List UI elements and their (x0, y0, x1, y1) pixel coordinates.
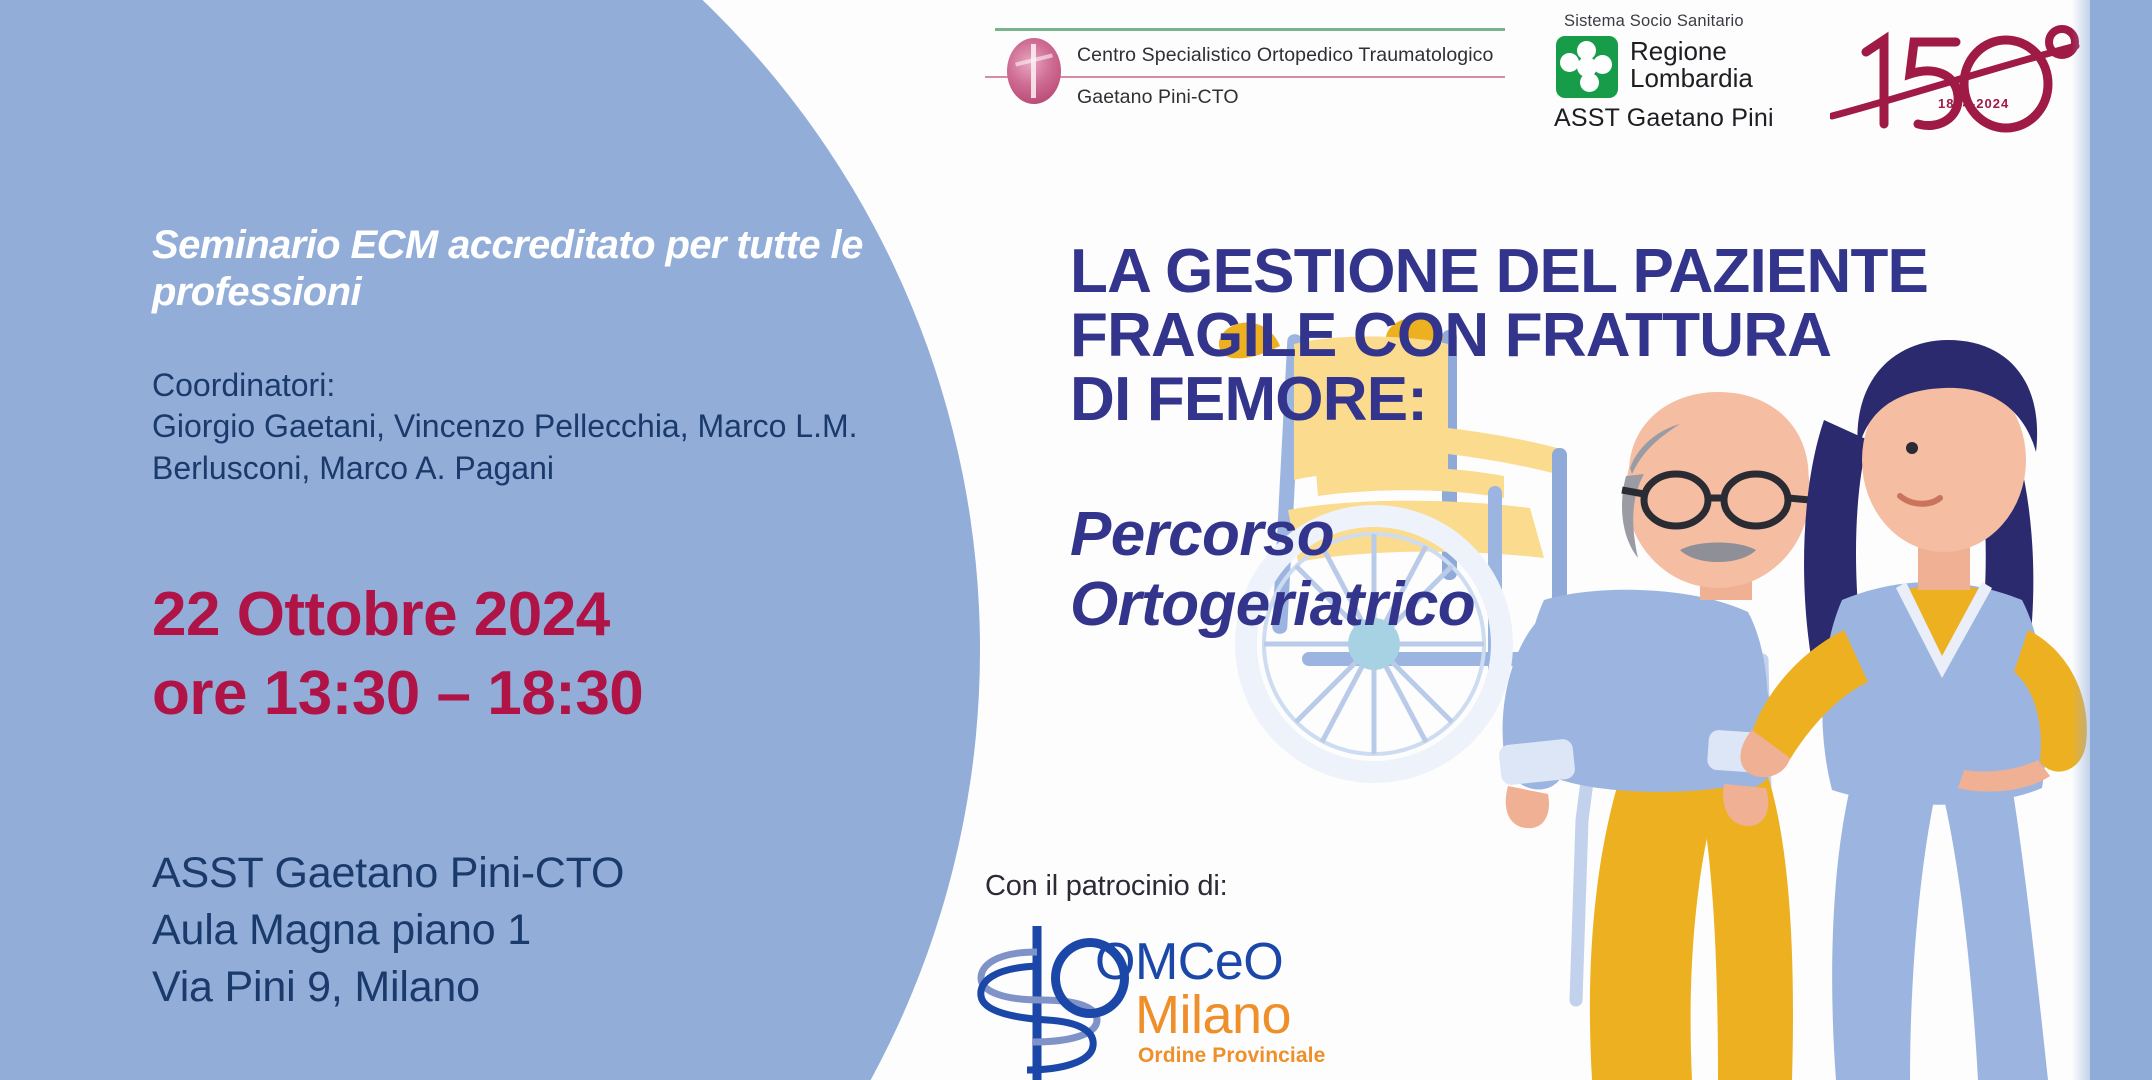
cto-green-rule (995, 28, 1505, 31)
event-date: 22 Ottobre 2024 (152, 575, 892, 654)
coordinators-label: Coordinatori: (152, 365, 335, 407)
event-subtitle-line2: Ortogeriatrico (1070, 570, 1870, 640)
sistema-socio-sanitario-label: Sistema Socio Sanitario (1564, 12, 1744, 31)
logo-row: Centro Specialistico Ortopedico Traumato… (985, 6, 2095, 136)
event-title: LA GESTIONE DEL PAZIENTE FRAGILE CON FRA… (1070, 240, 2100, 432)
event-title-line3: DI FEMORE: (1070, 368, 2100, 432)
event-poster: Centro Specialistico Ortopedico Traumato… (0, 0, 2152, 1080)
omceo-subtitle: Ordine Provinciale (1138, 1044, 1325, 1068)
venue-room: Aula Magna piano 1 (152, 902, 892, 959)
venue-street: Via Pini 9, Milano (152, 959, 892, 1016)
cto-logo: Centro Specialistico Ortopedico Traumato… (985, 20, 1505, 120)
right-edge-gradient (2072, 0, 2090, 1080)
patronage-label: Con il patrocinio di: (985, 870, 1405, 903)
right-edge-band (2090, 0, 2152, 1080)
omceo-logo: OMCeO Milano Ordine Provinciale (975, 916, 1395, 1080)
event-subtitle: Percorso Ortogeriatrico (1070, 500, 1870, 640)
omceo-city: Milano (1135, 984, 1291, 1046)
anniversary-150-icon (1830, 12, 2090, 136)
cto-logo-line2: Gaetano Pini-CTO (1077, 86, 1239, 109)
cto-pink-rule (985, 76, 1505, 78)
event-subtitle-line1: Percorso (1070, 500, 1870, 570)
venue-name: ASST Gaetano Pini-CTO (152, 845, 892, 902)
regione-label: Regione (1630, 38, 1727, 65)
lombardia-label: Lombardia (1630, 65, 1753, 92)
venue-address: ASST Gaetano Pini-CTO Aula Magna piano 1… (152, 845, 892, 1017)
patronage-block: Con il patrocinio di: OMCeO Milano Ordin… (985, 870, 1405, 903)
event-date-time: 22 Ottobre 2024 ore 13:30 – 18:30 (152, 575, 892, 734)
cto-emblem-icon (1007, 38, 1061, 104)
asst-gaetano-pini-label: ASST Gaetano Pini (1554, 104, 1774, 133)
lombardia-rose-icon (1556, 36, 1618, 98)
anniversary-years-label: 1874-2024 (1938, 96, 2009, 111)
left-info-column: Seminario ECM accreditato per tutte le p… (152, 0, 912, 1080)
event-time: ore 13:30 – 18:30 (152, 654, 892, 733)
omceo-name: OMCeO (1095, 932, 1283, 992)
event-title-line1: LA GESTIONE DEL PAZIENTE (1070, 240, 2100, 304)
cto-logo-line1: Centro Specialistico Ortopedico Traumato… (1077, 44, 1493, 67)
ecm-accreditation-note: Seminario ECM accreditato per tutte le p… (152, 222, 912, 316)
event-title-line2: FRAGILE CON FRATTURA (1070, 304, 2100, 368)
regione-lombardia-logo: Sistema Socio Sanitario Regione Lombardi… (1540, 10, 1810, 136)
anniversary-150-logo: 1874-2024 (1830, 12, 2090, 136)
coordinators-names: Giorgio Gaetani, Vincenzo Pellecchia, Ma… (152, 405, 892, 489)
